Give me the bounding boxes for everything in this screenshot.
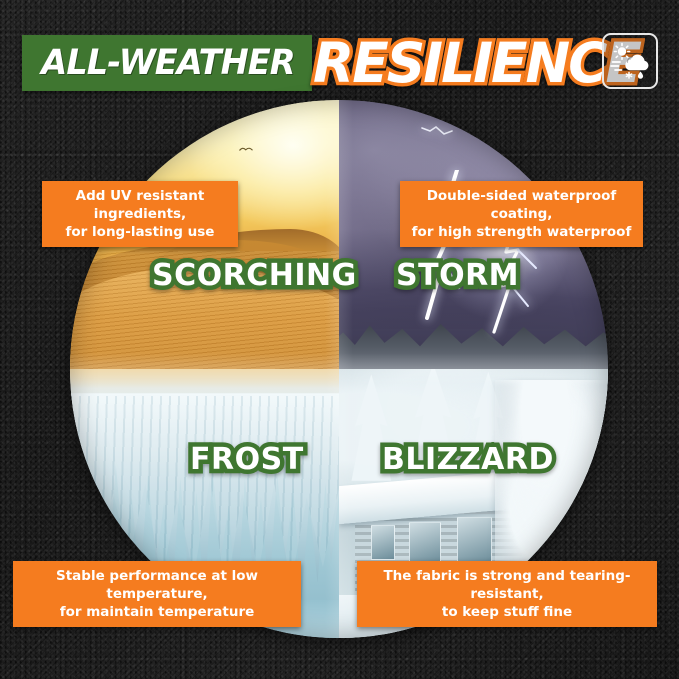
label-blizzard: BLIZZARD <box>382 442 554 477</box>
page-title-part2: RESILIENCE <box>313 35 640 91</box>
cabin-window <box>457 517 492 563</box>
label-scorching: SCORCHING <box>152 258 357 293</box>
label-storm: STORM <box>396 258 519 293</box>
bird-silhouette <box>239 146 252 151</box>
quadrant-seam-horizontal <box>70 353 608 385</box>
weather-icon-badge <box>602 33 658 89</box>
page-title-part1: ALL-WEATHER <box>41 43 294 83</box>
caption-storm: Double-sided waterproof coating, for hig… <box>400 181 643 247</box>
cabin-window <box>371 525 395 560</box>
header-banner: ALL-WEATHER RESILIENCE <box>22 32 658 94</box>
cabin-window <box>409 522 441 562</box>
lightning-bolt-small-icon <box>420 122 454 152</box>
label-frost: FROST <box>190 442 304 477</box>
title-green-block: ALL-WEATHER <box>22 35 312 91</box>
caption-blizzard: The fabric is strong and tearing-resista… <box>357 561 657 627</box>
caption-frost: Stable performance at low temperature, f… <box>13 561 301 627</box>
bird-icon <box>239 146 253 152</box>
caption-scorching: Add UV resistant ingredients, for long-l… <box>42 181 238 247</box>
sun-cloud-rain-snow-icon <box>609 42 651 80</box>
